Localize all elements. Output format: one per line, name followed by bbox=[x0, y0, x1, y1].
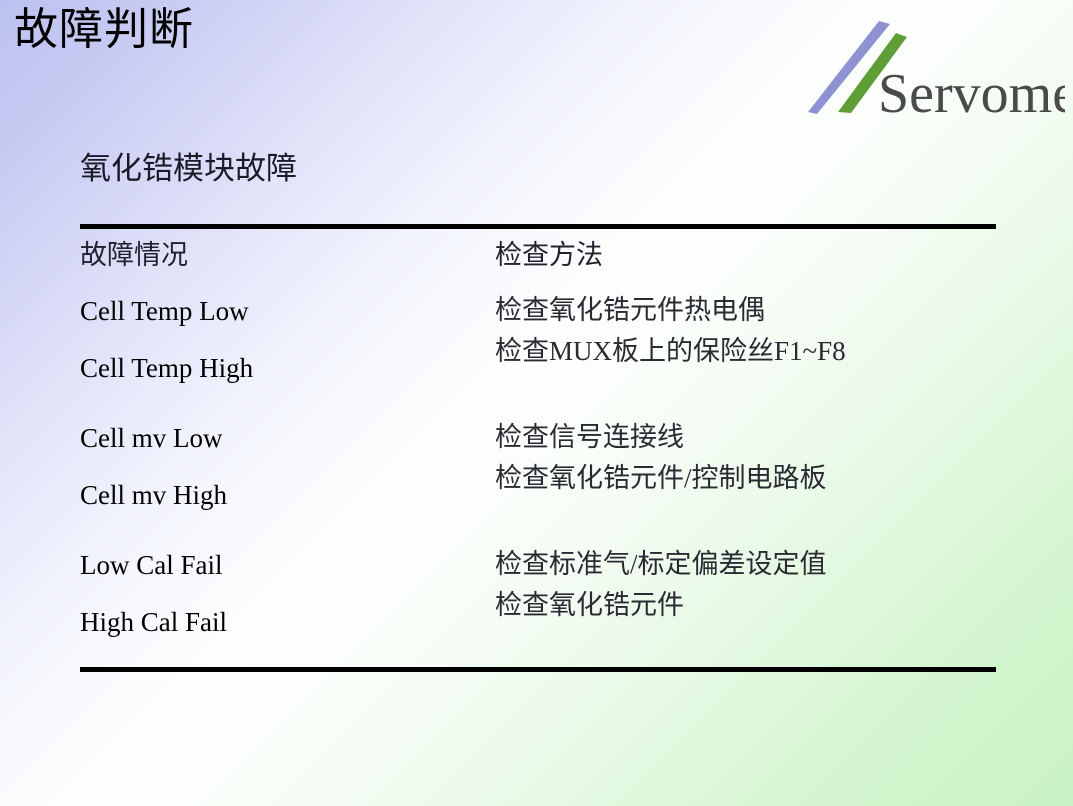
fault-cell: Cell Temp High bbox=[80, 342, 495, 399]
header-label-fault: 故障情况 bbox=[80, 229, 495, 285]
fault-label: Cell Temp Low bbox=[80, 285, 495, 342]
check-cell: 检查氧化锆元件热电偶 检查MUX板上的保险丝F1~F8 bbox=[495, 285, 996, 399]
fault-diagnosis-table: 故障情况 检查方法 Cell Temp Low 检查氧化锆元件热电偶 检查MUX… bbox=[80, 229, 996, 667]
header-cell-check: 检查方法 bbox=[495, 229, 996, 285]
fault-cell: Cell mv High bbox=[80, 469, 495, 526]
check-line: 检查标准气/标定偏差设定值 bbox=[495, 539, 996, 584]
header-cell-fault: 故障情况 bbox=[80, 229, 495, 285]
group-divider-row bbox=[80, 526, 996, 539]
fault-label: Low Cal Fail bbox=[80, 539, 495, 596]
fault-cell: Cell Temp Low bbox=[80, 285, 495, 342]
fault-cell: Cell mv Low bbox=[80, 412, 495, 469]
header-label-check: 检查方法 bbox=[495, 229, 996, 285]
fault-label: Cell Temp High bbox=[80, 342, 495, 399]
table-row: Cell Temp Low 检查氧化锆元件热电偶 检查MUX板上的保险丝F1~F… bbox=[80, 285, 996, 342]
group-divider-right bbox=[495, 399, 996, 412]
bottom-spacer-right bbox=[495, 653, 996, 667]
check-cell: 检查标准气/标定偏差设定值 检查氧化锆元件 bbox=[495, 539, 996, 653]
fault-label: High Cal Fail bbox=[80, 596, 495, 653]
section-subtitle: 氧化锆模块故障 bbox=[80, 143, 297, 188]
fault-table-container: 故障情况 检查方法 Cell Temp Low 检查氧化锆元件热电偶 检查MUX… bbox=[80, 224, 996, 672]
check-line: 检查MUX板上的保险丝F1~F8 bbox=[495, 330, 996, 379]
table-row: Low Cal Fail 检查标准气/标定偏差设定值 检查氧化锆元件 bbox=[80, 539, 996, 596]
check-line: 检查氧化锆元件热电偶 bbox=[495, 285, 996, 330]
group-divider-left bbox=[80, 399, 495, 412]
fault-label: Cell mv Low bbox=[80, 412, 495, 469]
fault-cell: Low Cal Fail bbox=[80, 539, 495, 596]
fault-label: Cell mv High bbox=[80, 469, 495, 526]
servomex-logo: Servomex bbox=[795, 12, 1065, 122]
bottom-spacer-left bbox=[80, 653, 495, 667]
group-divider-right bbox=[495, 526, 996, 539]
check-line: 检查氧化锆元件 bbox=[495, 584, 996, 633]
table-header-row: 故障情况 检查方法 bbox=[80, 229, 996, 285]
page-title: 故障判断 bbox=[14, 5, 194, 56]
logo-wordmark: Servomex bbox=[878, 63, 1065, 122]
table-row: Cell mv Low 检查信号连接线 检查氧化锆元件/控制电路板 bbox=[80, 412, 996, 469]
table-bottom-border bbox=[80, 667, 996, 672]
group-divider-row bbox=[80, 399, 996, 412]
table-bottom-spacer-row bbox=[80, 653, 996, 667]
check-cell: 检查信号连接线 检查氧化锆元件/控制电路板 bbox=[495, 412, 996, 526]
group-divider-left bbox=[80, 526, 495, 539]
check-line: 检查信号连接线 bbox=[495, 412, 996, 457]
fault-cell: High Cal Fail bbox=[80, 596, 495, 653]
check-line: 检查氧化锆元件/控制电路板 bbox=[495, 457, 996, 506]
